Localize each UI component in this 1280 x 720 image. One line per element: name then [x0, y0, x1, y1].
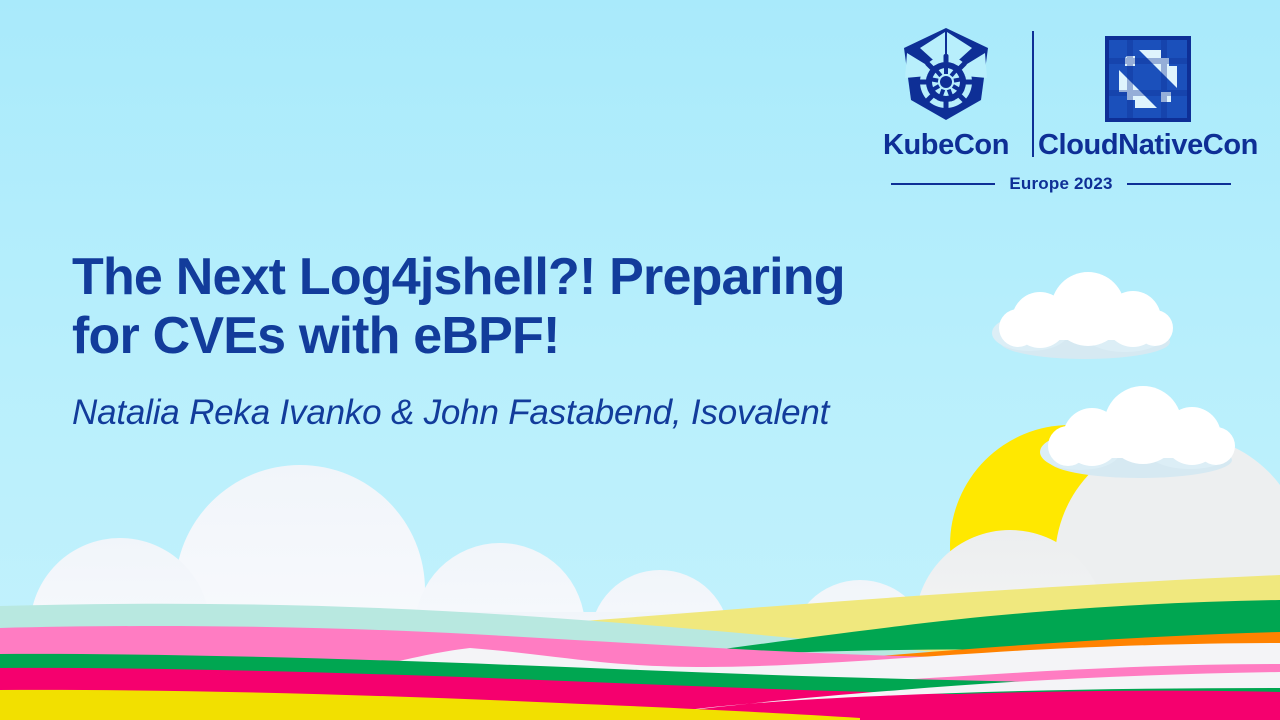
cncf-square-logo-icon	[1105, 36, 1191, 122]
title-text-block: The Next Log4jshell?! Preparing for CVEs…	[72, 248, 1032, 434]
event-line: Europe 2023	[876, 174, 1246, 194]
slide-subtitle: Natalia Reka Ivanko & John Fastabend, Is…	[72, 392, 1032, 434]
cloudnativecon-logo: CloudNativeCon	[1050, 36, 1246, 160]
kubernetes-helm-wheel-icon	[896, 26, 996, 122]
event-rule-right	[1127, 183, 1231, 185]
logo-divider	[1032, 31, 1034, 157]
page-title: The Next Log4jshell?! Preparing for CVEs…	[72, 248, 1032, 366]
event-label: Europe 2023	[1009, 174, 1112, 194]
logo-row: KubeCon	[876, 26, 1246, 160]
presentation-slide: KubeCon	[0, 0, 1280, 720]
kubecon-cloudnativecon-logo-lockup: KubeCon	[876, 26, 1246, 194]
event-rule-left	[891, 183, 995, 185]
kubecon-logo: KubeCon	[876, 26, 1016, 160]
cloudnativecon-wordmark: CloudNativeCon	[1038, 131, 1258, 160]
kubecon-wordmark: KubeCon	[883, 131, 1009, 160]
cloud-lower-right	[1040, 386, 1235, 478]
